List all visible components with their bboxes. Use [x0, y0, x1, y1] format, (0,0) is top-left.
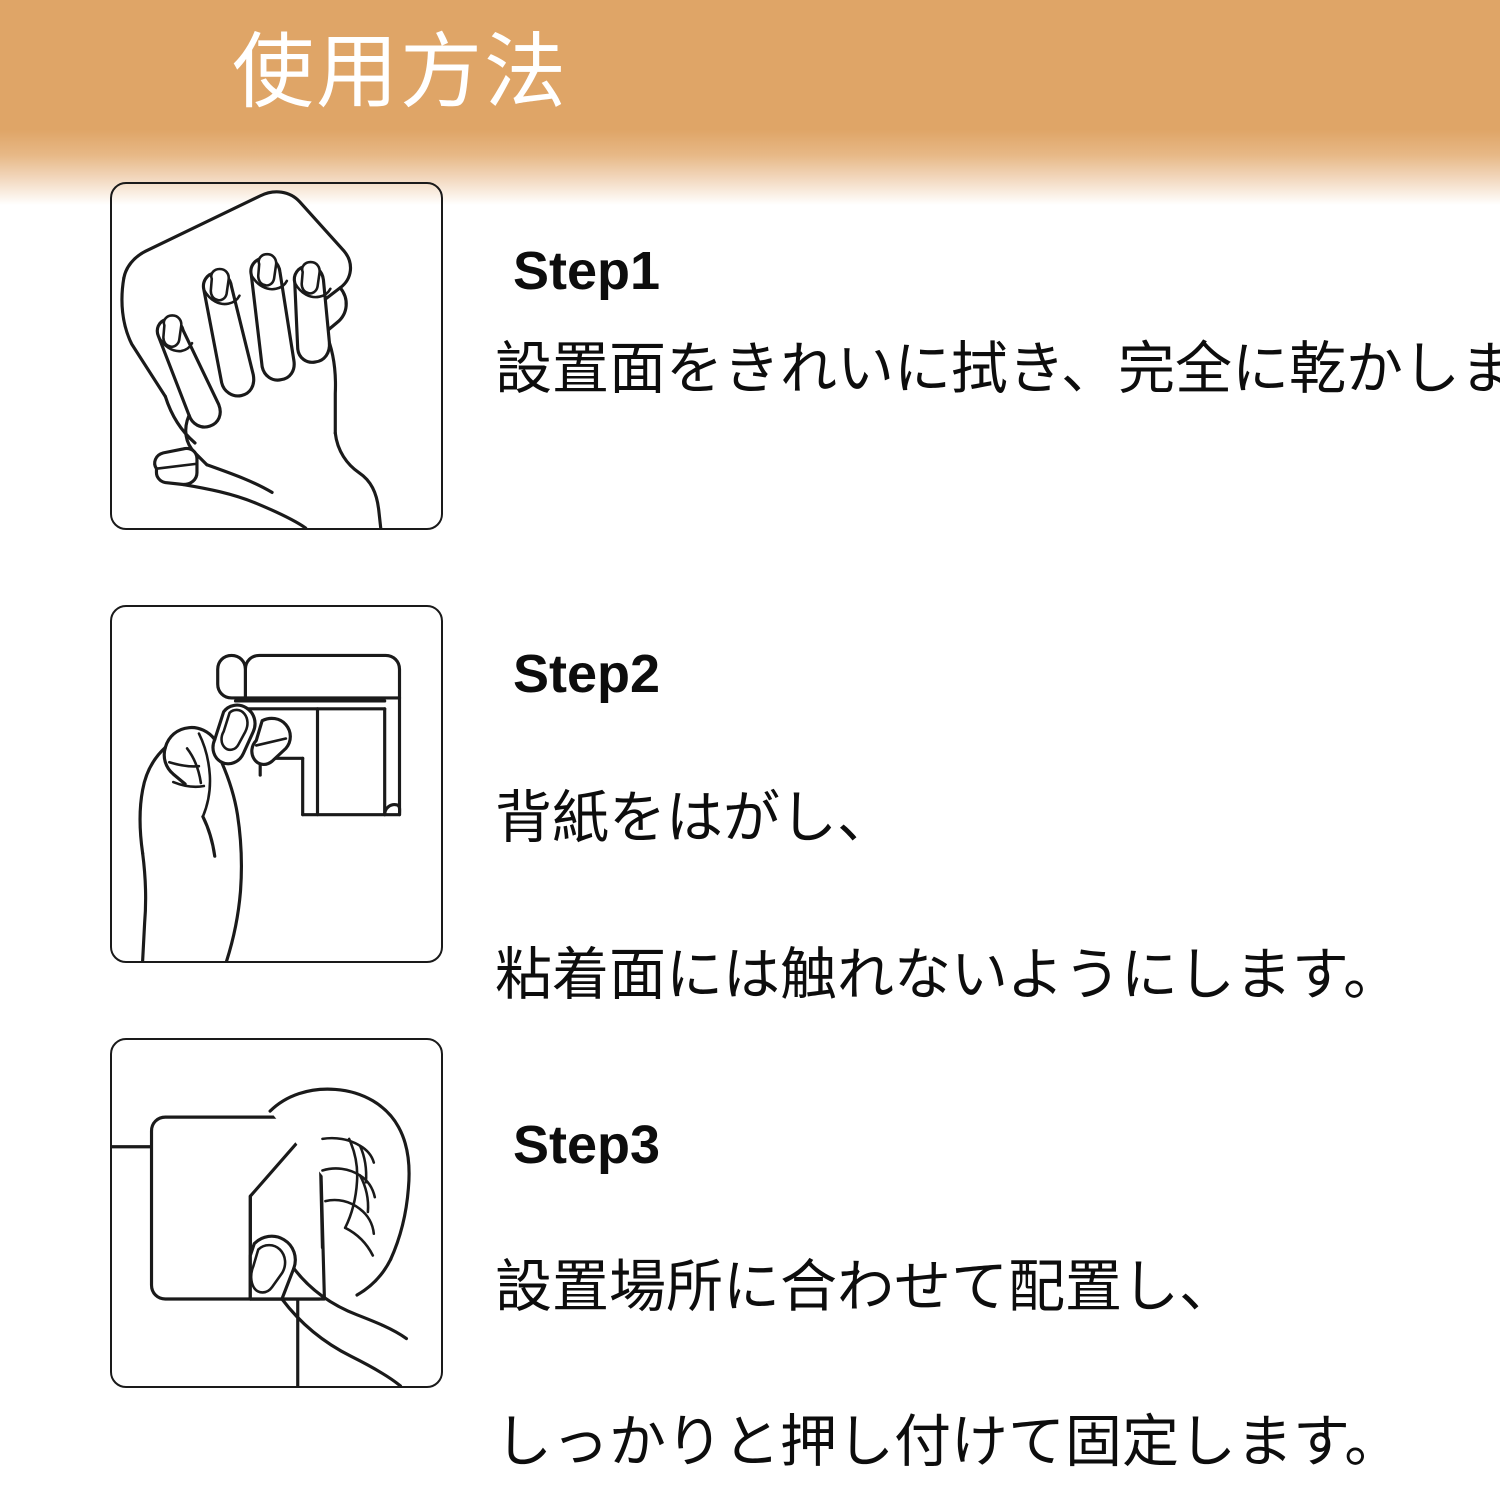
- page-title: 使用方法: [232, 28, 568, 118]
- header-banner: 使用方法: [0, 0, 1500, 205]
- step-row-2: Step2 背紙をはがし、 粘着面には触れないようにします。: [0, 605, 1500, 965]
- step-row-1: Step1 設置面をきれいに拭き、完全に乾かします。: [0, 182, 1500, 532]
- step2-text-block: Step2 背紙をはがし、 粘着面には触れないようにします。: [495, 647, 1485, 1014]
- hand-peeling-backing-paper-from-hook-icon: [112, 607, 441, 961]
- step1-body-line-1: 設置面をきれいに拭き、完全に乾かします。: [495, 330, 1485, 409]
- step2-body-line-2: 粘着面には触れないようにします。: [495, 936, 1485, 1015]
- hand-pressing-hook-onto-wall-icon: [112, 1040, 441, 1386]
- step3-heading: Step3: [513, 1118, 1485, 1172]
- step3-body-line-2: しっかりと押し付けて固定します。: [495, 1403, 1485, 1482]
- step1-text-block: Step1 設置面をきれいに拭き、完全に乾かします。: [495, 244, 1485, 409]
- step2-illustration-panel: [110, 605, 443, 963]
- step3-body-line-1: 設置場所に合わせて配置し、: [495, 1248, 1485, 1327]
- step1-illustration-panel: [110, 182, 443, 530]
- step-row-3: Step3 設置場所に合わせて配置し、 しっかりと押し付けて固定します。: [0, 1038, 1500, 1390]
- step2-body-line-1: 背紙をはがし、: [495, 779, 1485, 858]
- step3-text-block: Step3 設置場所に合わせて配置し、 しっかりと押し付けて固定します。: [495, 1118, 1485, 1481]
- hand-wiping-surface-with-cloth-icon: [112, 184, 441, 528]
- step2-heading: Step2: [513, 647, 1485, 701]
- step3-illustration-panel: [110, 1038, 443, 1388]
- step1-heading: Step1: [513, 244, 1485, 298]
